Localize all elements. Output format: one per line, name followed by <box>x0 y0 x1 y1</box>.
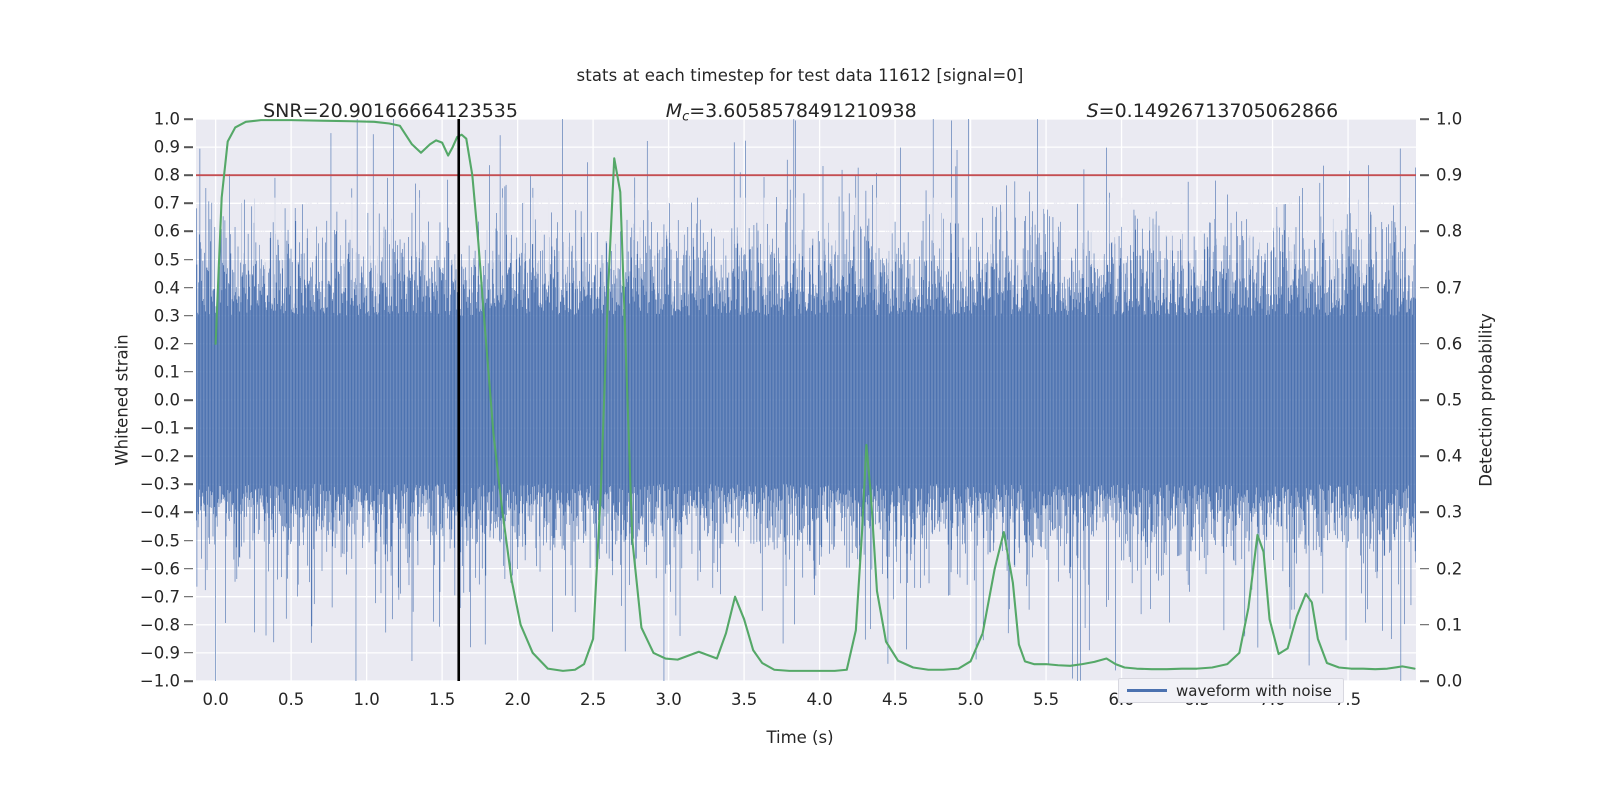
annotation-mc-label: M <box>666 100 682 122</box>
y-axis-right-tick-mark <box>1420 399 1429 401</box>
annotation-mc-value: 3.6058578491210938 <box>705 100 917 122</box>
plot-area <box>196 119 1416 681</box>
y-axis-left-tick-mark <box>184 484 193 486</box>
legend-line-swatch-waveform-with-noise <box>1127 689 1167 691</box>
x-axis-tick-label: 2.0 <box>504 690 530 709</box>
y-axis-left-tick-label: 0.0 <box>154 391 180 410</box>
annotation-snr: SNR=20.90166664123535 <box>263 100 518 122</box>
y-axis-left-tick-mark <box>184 540 193 542</box>
y-axis-left-tick-label: −0.1 <box>140 419 180 438</box>
y-axis-left-tick-mark <box>184 315 193 317</box>
y-axis-left-tick-label: −0.3 <box>140 475 180 494</box>
x-axis-label: Time (s) <box>0 728 1600 747</box>
y-axis-left-tick-mark <box>184 624 193 626</box>
y-axis-left-tick-mark <box>184 203 193 205</box>
annotation-s-label: S <box>1087 100 1099 122</box>
y-axis-right-tick-label: 0.5 <box>1436 391 1462 410</box>
y-axis-left-tick-label: 0.7 <box>154 194 180 213</box>
y-axis-right-tick-mark <box>1420 118 1429 120</box>
y-axis-left-tick-label: 0.4 <box>154 278 180 297</box>
y-axis-left-tick-mark <box>184 512 193 514</box>
y-axis-right-tick-label: 0.8 <box>1436 222 1462 241</box>
annotation-mc-eq: = <box>689 100 705 122</box>
x-axis-tick-label: 3.5 <box>731 690 757 709</box>
y-axis-left-tick-mark <box>184 399 193 401</box>
y-axis-left-tick-label: −0.8 <box>140 615 180 634</box>
chart-title: stats at each timestep for test data 116… <box>0 66 1600 85</box>
y-axis-left-tick-mark <box>184 231 193 233</box>
y-axis-right-tick-label: 0.7 <box>1436 278 1462 297</box>
y-axis-right-label: Detection probability <box>1477 313 1496 486</box>
y-axis-right-tick-mark <box>1420 455 1429 457</box>
y-axis-left-tick-label: 0.3 <box>154 306 180 325</box>
y-axis-left-tick-label: 0.8 <box>154 166 180 185</box>
x-axis-tick-label: 0.5 <box>278 690 304 709</box>
y-axis-right-tick-label: 0.2 <box>1436 559 1462 578</box>
y-axis-left-tick-label: 0.9 <box>154 138 180 157</box>
annotation-s-value: 0.14926713705062866 <box>1115 100 1339 122</box>
y-axis-left-tick-label: −0.2 <box>140 447 180 466</box>
x-axis-tick-label: 1.0 <box>353 690 379 709</box>
y-axis-left-tick-label: −0.9 <box>140 643 180 662</box>
y-axis-left-tick-label: 0.6 <box>154 222 180 241</box>
y-axis-left-tick-label: −0.6 <box>140 559 180 578</box>
legend-label-waveform-with-noise: waveform with noise <box>1176 682 1332 700</box>
y-axis-left-tick-mark <box>184 568 193 570</box>
annotation-s-eq: = <box>1099 100 1115 122</box>
y-axis-right-tick-mark <box>1420 512 1429 514</box>
x-axis-tick-label: 2.5 <box>580 690 606 709</box>
x-axis-tick-label: 1.5 <box>429 690 455 709</box>
y-axis-right-tick-mark <box>1420 624 1429 626</box>
y-axis-left-tick-mark <box>184 259 193 261</box>
y-axis-left-tick-mark <box>184 455 193 457</box>
y-axis-left-tick-mark <box>184 652 193 654</box>
y-axis-right-tick-label: 1.0 <box>1436 110 1462 129</box>
y-axis-right-tick-label: 0.9 <box>1436 166 1462 185</box>
y-axis-left-tick-label: 0.2 <box>154 334 180 353</box>
y-axis-left-label: Whitened strain <box>113 334 132 465</box>
annotation-chirp-mass: Mc=3.6058578491210938 <box>666 100 917 125</box>
y-axis-right-tick-mark <box>1420 231 1429 233</box>
y-axis-right-tick-mark <box>1420 680 1429 682</box>
y-axis-right-tick-label: 0.1 <box>1436 615 1462 634</box>
y-axis-right-tick-mark <box>1420 568 1429 570</box>
y-axis-right-tick-label: 0.3 <box>1436 503 1462 522</box>
annotation-significance: S=0.14926713705062866 <box>1087 100 1339 122</box>
x-axis-tick-label: 5.5 <box>1033 690 1059 709</box>
plot-svg <box>196 119 1416 681</box>
y-axis-left-tick-label: 0.1 <box>154 362 180 381</box>
y-axis-left-tick-mark <box>184 427 193 429</box>
y-axis-right-tick-label: 0.0 <box>1436 672 1462 691</box>
x-axis-tick-label: 4.5 <box>882 690 908 709</box>
y-axis-right-tick-mark <box>1420 343 1429 345</box>
y-axis-left-tick-mark <box>184 287 193 289</box>
y-axis-right-tick-label: 0.4 <box>1436 447 1462 466</box>
x-axis-tick-label: 3.0 <box>655 690 681 709</box>
y-axis-right-tick-mark <box>1420 287 1429 289</box>
y-axis-left-tick-label: −0.5 <box>140 531 180 550</box>
y-axis-left-tick-label: 1.0 <box>154 110 180 129</box>
figure-canvas: stats at each timestep for test data 116… <box>0 0 1600 800</box>
legend[interactable]: waveform with noise <box>1118 678 1344 703</box>
x-axis-tick-label: 5.0 <box>957 690 983 709</box>
y-axis-left-tick-label: 0.5 <box>154 250 180 269</box>
y-axis-left-tick-label: −1.0 <box>140 672 180 691</box>
y-axis-left-tick-mark <box>184 146 193 148</box>
annotation-snr-label: SNR= <box>263 100 318 122</box>
y-axis-right-tick-label: 0.6 <box>1436 334 1462 353</box>
y-axis-left-tick-label: −0.7 <box>140 587 180 606</box>
y-axis-left-tick-mark <box>184 174 193 176</box>
y-axis-right-tick-mark <box>1420 174 1429 176</box>
x-axis-tick-label: 0.0 <box>203 690 229 709</box>
annotation-snr-value: 20.90166664123535 <box>319 100 518 122</box>
y-axis-left-tick-mark <box>184 371 193 373</box>
y-axis-left-tick-mark <box>184 343 193 345</box>
y-axis-left-tick-mark <box>184 118 193 120</box>
y-axis-left-tick-label: −0.4 <box>140 503 180 522</box>
x-axis-tick-label: 4.0 <box>806 690 832 709</box>
y-axis-left-tick-mark <box>184 680 193 682</box>
y-axis-left-tick-mark <box>184 596 193 598</box>
